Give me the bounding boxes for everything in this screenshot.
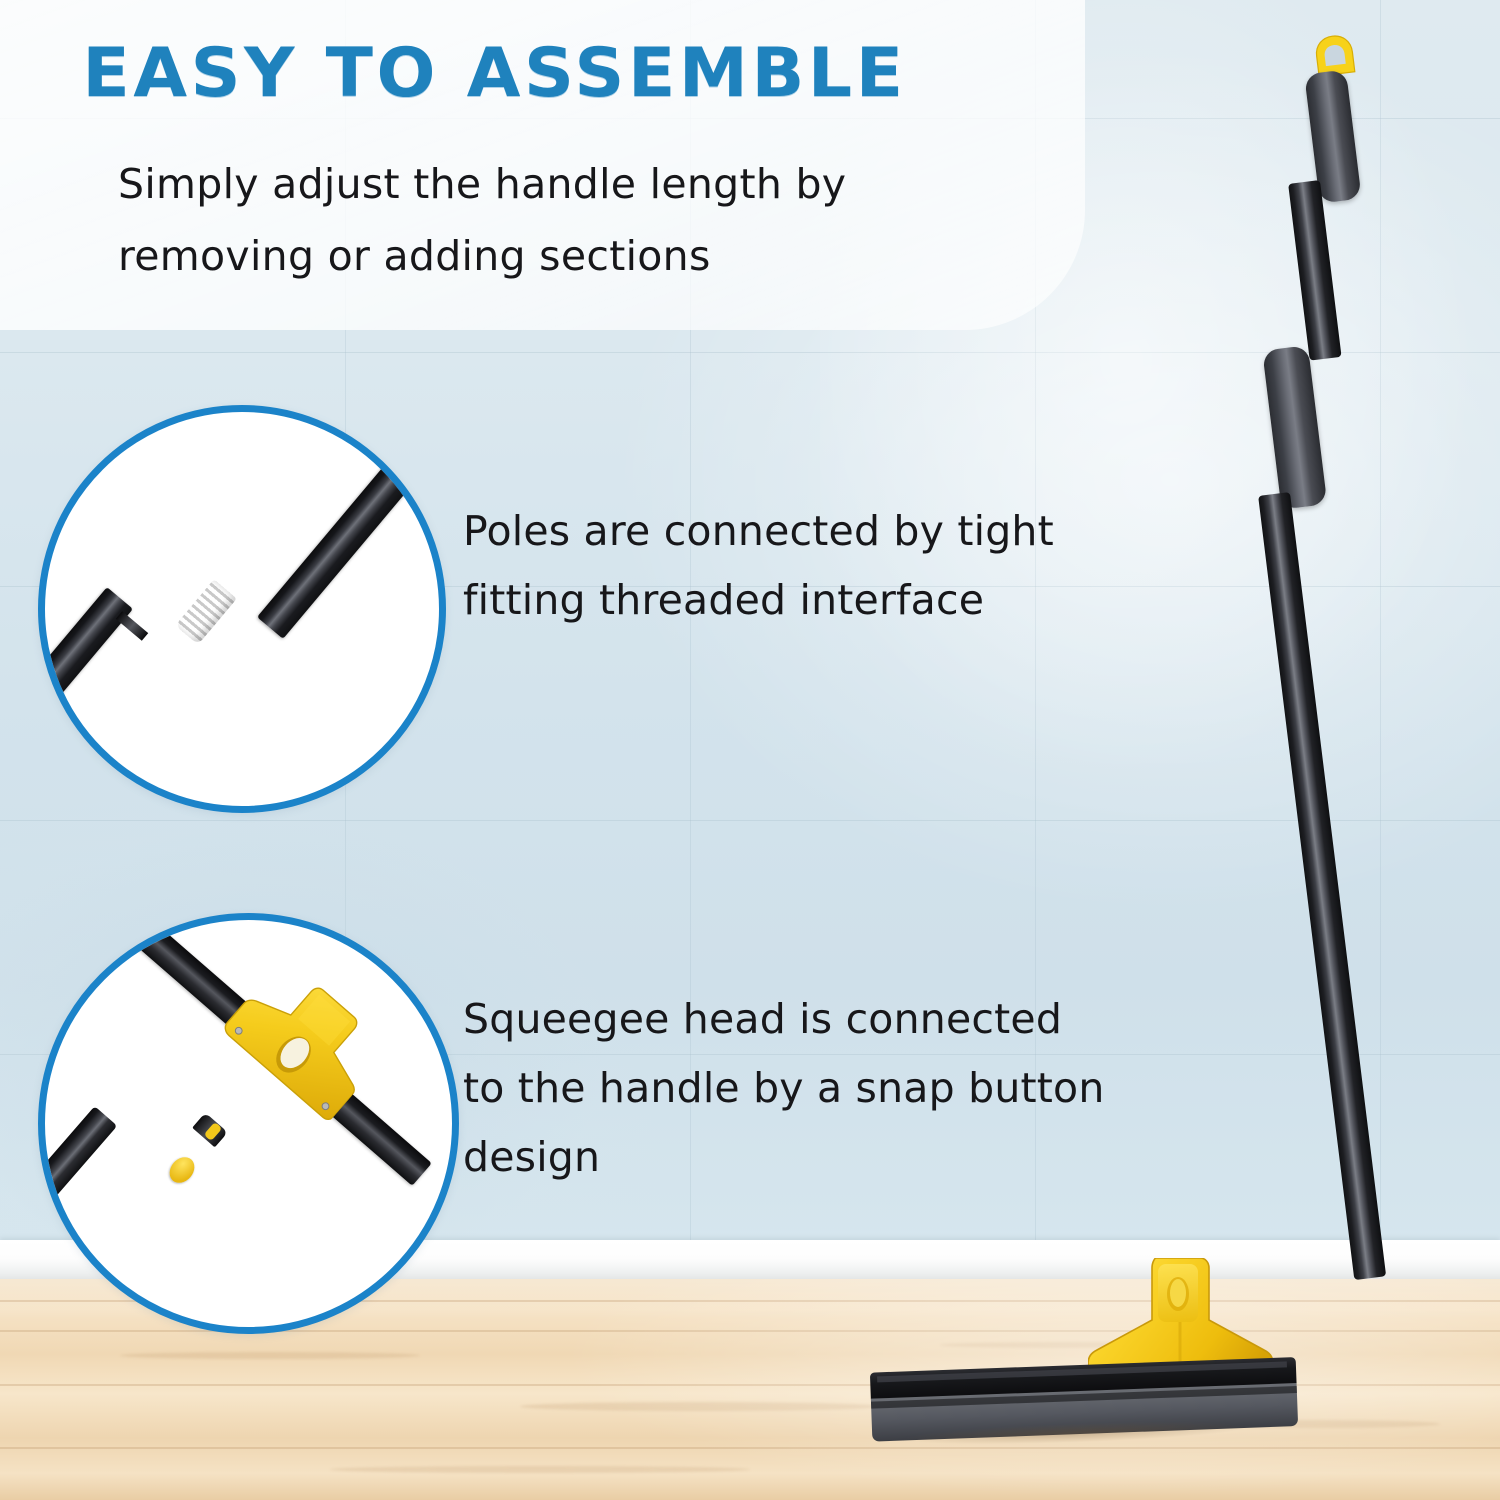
floor-plank-seam (0, 1384, 1500, 1386)
page-title: EASY TO ASSEMBLE (82, 34, 1061, 113)
page-subtitle: Simply adjust the handle length by remov… (118, 148, 978, 292)
wall-grout-line (1380, 0, 1381, 1262)
floor-grain (120, 1352, 420, 1359)
callout-caption-snap-button: Squeegee head is connected to the handle… (463, 985, 1113, 1192)
pole-joint-ring (116, 611, 148, 641)
floor-plank-seam (0, 1447, 1500, 1449)
page-subtitle-line1: Simply adjust the handle length by (118, 148, 978, 220)
pole-section-upper (257, 426, 444, 639)
wall-grout-line (0, 352, 1500, 353)
infographic-canvas: EASY TO ASSEMBLE Simply adjust the handl… (0, 0, 1500, 1500)
page-subtitle-line2: removing or adding sections (118, 220, 978, 292)
snap-button (165, 1152, 200, 1188)
floor-grain (520, 1402, 880, 1411)
floor-grain (330, 1466, 750, 1473)
floor-grain (1180, 1420, 1440, 1428)
threaded-screw-tip (175, 579, 237, 644)
callout-circle-snap-button (38, 913, 459, 1334)
wall-grout-line (0, 820, 1500, 821)
callout-circle-threaded-interface (38, 405, 446, 813)
floor-grain (940, 1342, 1220, 1348)
callout-caption-threaded-interface: Poles are connected by tight fitting thr… (463, 497, 1093, 635)
